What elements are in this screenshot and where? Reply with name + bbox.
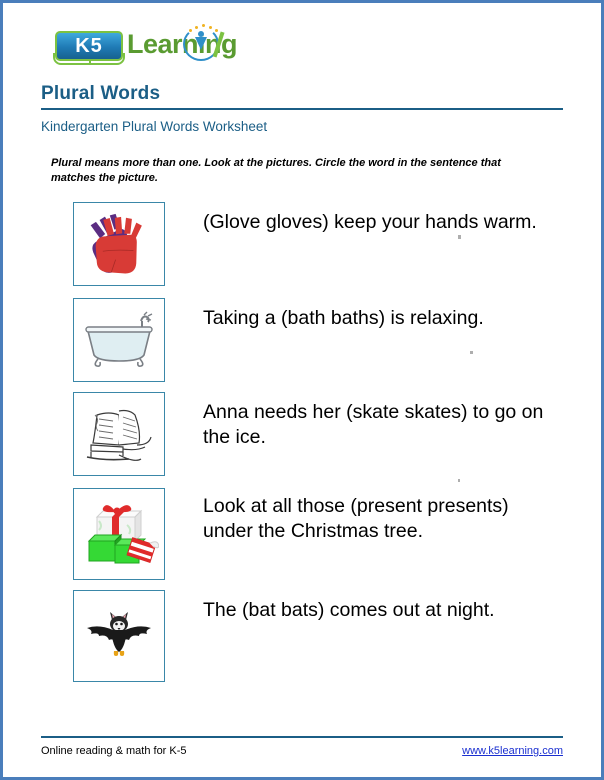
instructions-text: Plural means more than one. Look at the …: [51, 156, 531, 186]
gloves-illustration: [82, 210, 156, 278]
k5-learning-logo[interactable]: K5 Learning: [55, 25, 295, 69]
picture-box: [73, 392, 165, 476]
picture-box: [73, 488, 165, 580]
christmas-presents-illustration: [79, 499, 159, 569]
picture-box: [73, 590, 165, 682]
page-footer: Online reading & math for K-5 www.k5lear…: [41, 736, 563, 757]
page-title: Plural Words: [41, 83, 563, 105]
exercise-item: Taking a (bath baths) is relaxing.: [73, 298, 563, 382]
picture-box: [73, 202, 165, 286]
sentence-text: (Glove gloves) keep your hands warm.: [165, 202, 563, 235]
footer-tagline: Online reading & math for K-5: [41, 745, 187, 757]
sentence-text: Taking a (bath baths) is relaxing.: [165, 298, 563, 331]
exercise-item: Look at all those (present presents) und…: [73, 488, 563, 580]
exercise-item: Anna needs her (skate skates) to go on t…: [73, 392, 563, 476]
bathtub-illustration: [80, 311, 158, 369]
sparkle-dots-icon: [189, 24, 217, 32]
ice-skates-illustration: [79, 401, 159, 467]
page-subtitle: Kindergarten Plural Words Worksheet: [41, 119, 563, 134]
sentence-text: Look at all those (present presents) und…: [165, 488, 563, 544]
footer-website-link[interactable]: www.k5learning.com: [462, 745, 563, 757]
scan-artifact: [470, 351, 473, 354]
title-divider: [41, 108, 563, 110]
scan-artifact: [458, 479, 460, 482]
footer-divider: [41, 736, 563, 738]
picture-box: [73, 298, 165, 382]
exercise-list: (Glove gloves) keep your hands warm. T: [41, 202, 563, 682]
exercise-item: The (bat bats) comes out at night.: [73, 590, 563, 682]
logo-badge-text: K5: [55, 31, 123, 61]
sentence-text: Anna needs her (skate skates) to go on t…: [165, 392, 563, 450]
worksheet-page: K5 Learning Plural Words Kindergarten Pl…: [0, 0, 604, 780]
exercise-item: (Glove gloves) keep your hands warm.: [73, 202, 563, 286]
scan-artifact: [458, 235, 461, 239]
sentence-text: The (bat bats) comes out at night.: [165, 590, 563, 623]
bat-illustration: [79, 610, 159, 662]
